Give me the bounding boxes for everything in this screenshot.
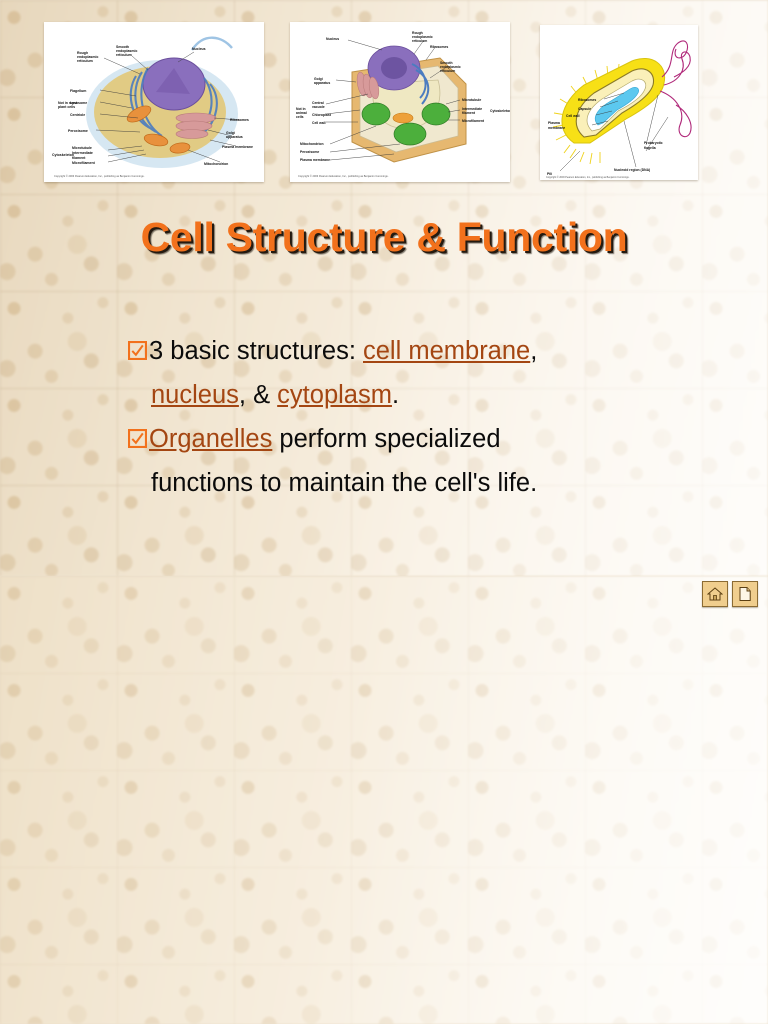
svg-text:reticulum: reticulum <box>412 39 427 43</box>
figure-copyright: Copyright © 2003 Pearson Education, Inc.… <box>298 174 389 178</box>
svg-text:reticulum: reticulum <box>116 53 132 57</box>
svg-text:Ribosomes: Ribosomes <box>578 98 596 102</box>
svg-text:Microfilament: Microfilament <box>72 161 96 165</box>
svg-text:apparatus: apparatus <box>314 81 330 85</box>
bullet-1-text-pre: 3 basic structures: <box>149 337 363 365</box>
svg-text:Cytoskeleton: Cytoskeleton <box>490 109 510 113</box>
svg-text:Cell wall: Cell wall <box>312 121 326 125</box>
svg-text:membrane: membrane <box>548 126 565 130</box>
svg-text:Nucleus: Nucleus <box>192 47 206 51</box>
svg-text:reticulum: reticulum <box>77 59 93 63</box>
figure-copyright: Copyright © 2003 Pearson Education, Inc.… <box>546 176 630 179</box>
svg-text:Chloroplast: Chloroplast <box>312 113 332 117</box>
svg-text:Mitochondrion: Mitochondrion <box>300 142 324 146</box>
keyword-cell-membrane[interactable]: cell membrane <box>363 337 530 365</box>
svg-text:plant cells: plant cells <box>58 105 75 109</box>
bullet-list: 3 basic structures: cell membrane, nucle… <box>128 330 728 506</box>
svg-text:cells: cells <box>296 115 304 119</box>
svg-text:vacuole: vacuole <box>312 105 325 109</box>
svg-text:filament: filament <box>462 111 476 115</box>
svg-text:apparatus: apparatus <box>226 135 243 139</box>
svg-text:Mitochondrion: Mitochondrion <box>204 162 228 166</box>
svg-text:Intermediate: Intermediate <box>72 151 93 155</box>
plant-cell-diagram[interactable]: Nucleus Roughendoplasmicreticulum Riboso… <box>290 22 510 182</box>
svg-text:Lysosome: Lysosome <box>70 101 87 105</box>
keyword-nucleus[interactable]: nucleus <box>151 381 239 409</box>
svg-text:Prokaryotic: Prokaryotic <box>644 141 663 145</box>
cell-diagram-thumbnails: Roughendoplasmicreticulum Smoothendoplas… <box>0 0 768 200</box>
prokaryotic-cell-diagram[interactable]: Ribosomes Capsule Cell wall Plasmamembra… <box>540 25 698 180</box>
svg-text:Ribosomes: Ribosomes <box>430 45 448 49</box>
page-title: Cell Structure & Function <box>0 214 768 261</box>
navigation-icons <box>702 581 758 607</box>
keyword-cytoplasm[interactable]: cytoplasm <box>277 381 392 409</box>
bullet-item-1: 3 basic structures: cell membrane, nucle… <box>128 330 728 416</box>
svg-text:Microfilament: Microfilament <box>462 119 485 123</box>
slide-cell-membrane: CELL MEMBRANE <box>0 576 768 1024</box>
svg-text:Plasma membrane: Plasma membrane <box>222 145 253 149</box>
bullet-1-line2-post: . <box>392 381 399 409</box>
svg-text:Peroxisome: Peroxisome <box>300 150 319 154</box>
bullet-1-text-post: , <box>530 337 537 365</box>
svg-text:Cytoskeleton: Cytoskeleton <box>52 153 74 157</box>
svg-text:Ribosomes: Ribosomes <box>230 118 249 122</box>
svg-text:Microtubule: Microtubule <box>462 98 481 102</box>
svg-text:Nucleoid region (DNA): Nucleoid region (DNA) <box>614 168 650 172</box>
svg-text:Plasma: Plasma <box>548 121 560 125</box>
figure-copyright: Copyright © 2003 Pearson Education, Inc.… <box>54 174 145 178</box>
slide-cell-structure-and-function: Roughendoplasmicreticulum Smoothendoplas… <box>0 0 768 576</box>
animal-cell-diagram[interactable]: Roughendoplasmicreticulum Smoothendoplas… <box>44 22 264 182</box>
presentation-scroll-view: Roughendoplasmicreticulum Smoothendoplas… <box>0 0 768 1024</box>
home-icon[interactable] <box>702 581 728 607</box>
svg-text:Peroxisome: Peroxisome <box>68 129 88 133</box>
svg-text:Plasma membrane: Plasma membrane <box>300 158 330 162</box>
bullet-1-line2-mid: , & <box>239 381 277 409</box>
bullet-2-line2: functions to maintain the cell's life. <box>151 462 728 504</box>
keyword-organelles[interactable]: Organelles <box>149 425 272 453</box>
svg-text:Centriole: Centriole <box>70 113 85 117</box>
slide-background-texture <box>0 576 768 1024</box>
svg-text:Flagellum: Flagellum <box>70 89 86 93</box>
bullet-item-2: Organelles perform specialized functions… <box>128 418 728 504</box>
checkbox-check-icon <box>128 330 147 360</box>
svg-text:Microtubule: Microtubule <box>72 146 92 150</box>
checkbox-check-icon <box>128 418 147 448</box>
bullet-2-text-post: perform specialized <box>272 425 500 453</box>
svg-text:flagella: flagella <box>644 146 656 150</box>
svg-text:Cell wall: Cell wall <box>566 114 580 118</box>
svg-text:filament: filament <box>72 156 86 160</box>
page-icon[interactable] <box>732 581 758 607</box>
svg-text:Capsule: Capsule <box>578 107 591 111</box>
svg-text:Nucleus: Nucleus <box>326 37 339 41</box>
svg-text:reticulum: reticulum <box>440 69 455 73</box>
